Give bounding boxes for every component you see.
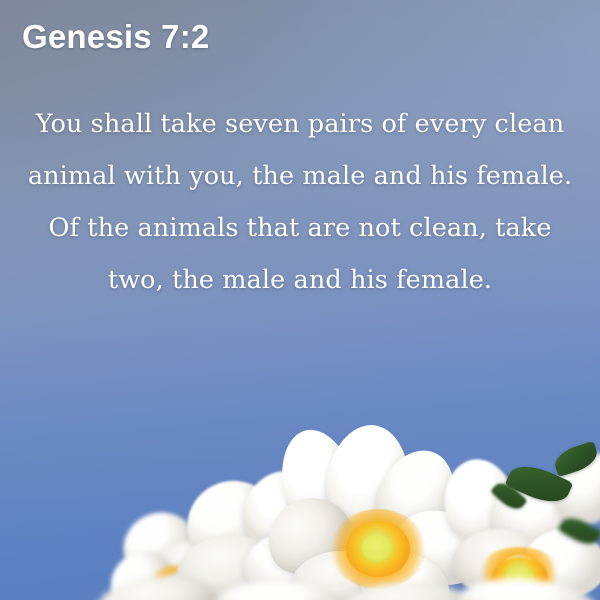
verse-line: You shall take seven pairs of every clea… [26, 98, 574, 150]
flower-cluster [0, 425, 600, 600]
verse-line: Of the animals that are not clean, take [26, 202, 574, 254]
verse-text: You shall take seven pairs of every clea… [0, 98, 600, 306]
flower-core [362, 535, 392, 561]
verse-image: Genesis 7:2 You shall take seven pairs o… [0, 0, 600, 600]
verse-line: two, the male and his female. [26, 254, 574, 306]
verse-line: animal with you, the male and his female… [26, 150, 574, 202]
page-title: Genesis 7:2 [22, 18, 209, 56]
